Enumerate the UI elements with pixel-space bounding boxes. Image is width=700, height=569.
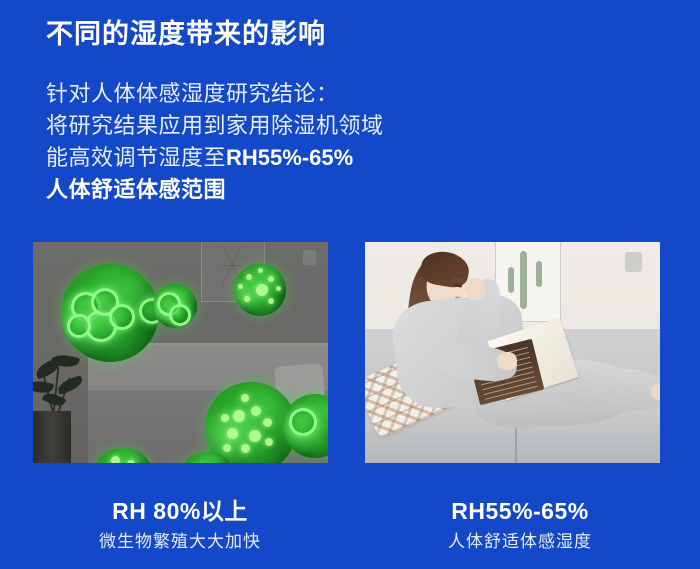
caption-subtitle: 人体舒适体感湿度 (355, 530, 685, 554)
body-copy-line-3: 能高效调节湿度至RH55%-65% (46, 142, 384, 174)
caption-comfort-humidity: RH55%-65% 人体舒适体感湿度 (355, 496, 685, 554)
slide-root: 不同的湿度带来的影响 针对人体体感湿度研究结论： 将研究结果应用到家用除湿机领域… (0, 0, 700, 569)
microbe-sphere-edge-right (283, 394, 328, 458)
microbe-sphere-small (234, 264, 286, 316)
woman-hand-holding-book (497, 352, 517, 370)
microbe-sphere-edge-mid (153, 284, 197, 328)
body-copy-line-3-prefix: 能高效调节湿度至 (46, 145, 226, 170)
caption-high-humidity: RH 80%以上 微生物繁殖大大加快 (15, 496, 345, 554)
caption-title: RH 80%以上 (15, 496, 345, 526)
microbe-sphere-large (61, 264, 159, 362)
dim-living-room-scene (33, 242, 328, 463)
microbe-sphere-edge-bottom (95, 448, 151, 463)
body-copy-line-3-emphasis: RH55%-65% (226, 145, 353, 170)
plant-pot (33, 411, 71, 463)
photo-high-humidity (33, 242, 328, 463)
plant-leaf (56, 375, 84, 394)
page-title: 不同的湿度带来的影响 (46, 18, 326, 50)
body-copy-line-2: 将研究结果应用到家用除湿机领域 (46, 110, 384, 142)
caption-title: RH55%-65% (355, 496, 685, 526)
body-copy: 针对人体体感湿度研究结论： 将研究结果应用到家用除湿机领域 能高效调节湿度至RH… (46, 78, 384, 206)
body-copy-line-4: 人体舒适体感范围 (46, 174, 384, 206)
photo-comfort-humidity (365, 242, 660, 463)
bright-living-room-scene (365, 242, 660, 463)
woman-foot (651, 384, 660, 400)
body-copy-line-1: 针对人体体感湿度研究结论： (46, 78, 384, 110)
caption-subtitle: 微生物繁殖大大加快 (15, 530, 345, 554)
microbe-sphere-edge-bottom-2 (183, 452, 231, 463)
woman-reading (365, 242, 660, 463)
wall-thermostat-icon (303, 250, 316, 265)
